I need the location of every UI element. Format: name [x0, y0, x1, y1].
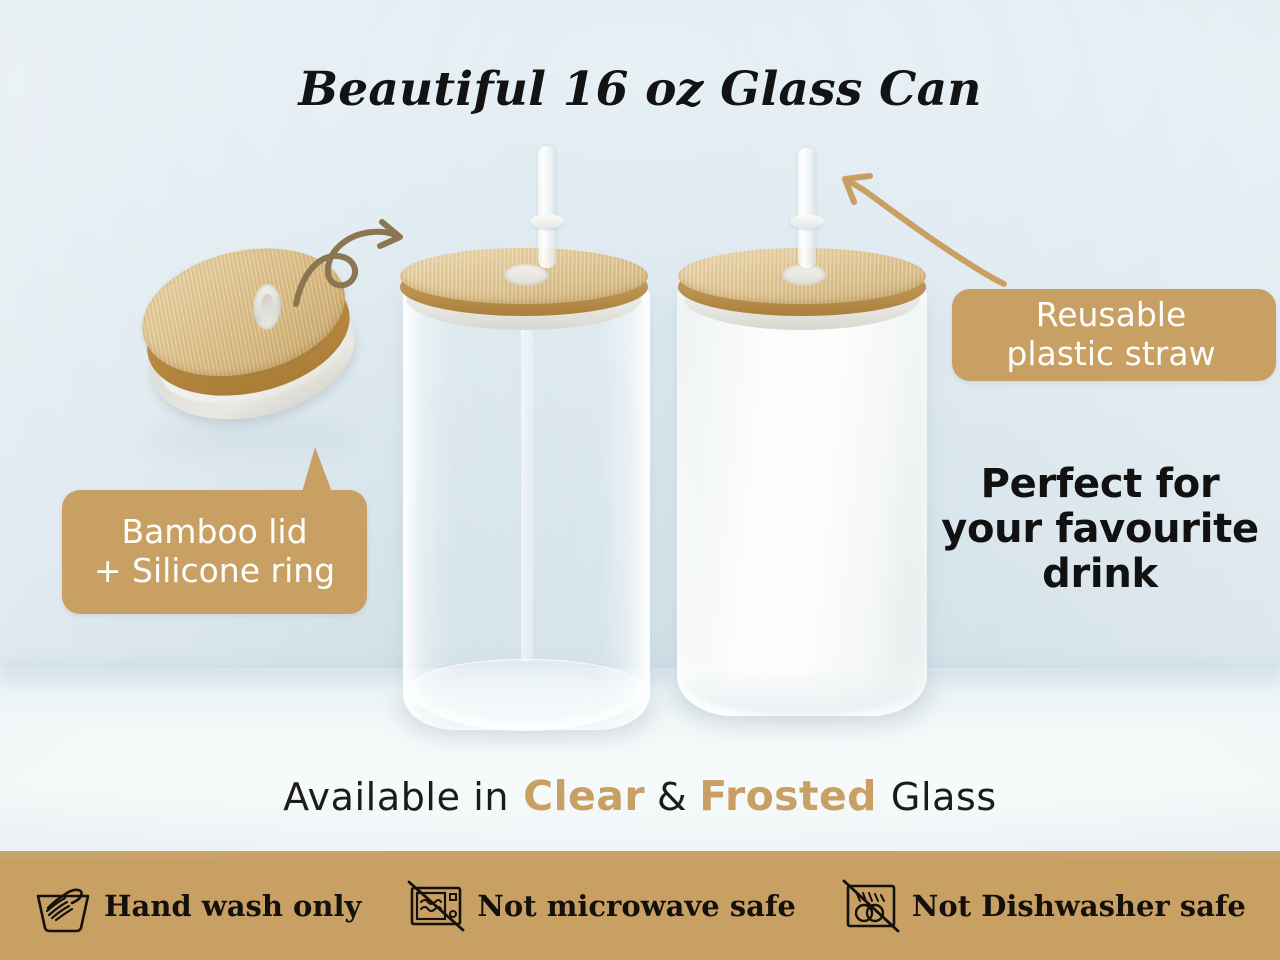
callout-bamboo-lid: Bamboo lid + Silicone ring	[62, 490, 367, 614]
no-dishwasher-icon	[842, 878, 900, 934]
callout-straw-line2: plastic straw	[1006, 335, 1215, 374]
availability-line: Available inClear&FrostedGlass	[0, 772, 1280, 820]
page-title: Beautiful 16 oz Glass Can	[0, 62, 1280, 117]
availability-option-frosted: Frosted	[699, 772, 877, 820]
care-item-no-microwave: Not microwave safe	[407, 878, 796, 934]
clear-can-straw-lower	[521, 300, 533, 662]
hand-wash-icon	[34, 878, 92, 934]
frosted-can-body	[677, 280, 927, 716]
callout-bamboo-lid-pointer	[302, 447, 332, 492]
care-label-no-dishwasher: Not Dishwasher safe	[912, 889, 1246, 923]
care-item-no-dishwasher: Not Dishwasher safe	[842, 878, 1246, 934]
availability-option-clear: Clear	[523, 772, 645, 820]
infographic-canvas: Beautiful 16 oz Glass Can	[0, 0, 1280, 960]
care-item-hand-wash: Hand wash only	[34, 878, 361, 934]
tagline: Perfect for your favourite drink	[940, 462, 1260, 596]
tagline-line3: drink	[940, 552, 1260, 597]
curly-arrow-to-lid-icon	[292, 212, 422, 308]
callout-lid-line2: + Silicone ring	[94, 552, 335, 591]
no-microwave-icon	[407, 878, 465, 934]
care-label-hand-wash: Hand wash only	[104, 889, 361, 923]
callout-lid-line1: Bamboo lid	[121, 512, 307, 551]
frosted-can-straw	[798, 148, 816, 268]
callout-reusable-straw: Reusable plastic straw	[952, 289, 1276, 381]
care-label-no-microwave: Not microwave safe	[477, 889, 796, 923]
care-instructions-bar: Hand wash only Not microwave safe	[0, 851, 1280, 960]
availability-conjunction: &	[645, 775, 699, 819]
clear-can-straw-collar	[530, 214, 564, 229]
curved-arrow-to-straw-icon	[826, 160, 1016, 290]
frosted-can-straw-collar	[790, 214, 824, 229]
availability-prefix: Available in	[283, 775, 509, 819]
availability-suffix: Glass	[891, 775, 997, 819]
clear-can-lid-hole	[504, 264, 548, 286]
clear-can-straw	[538, 146, 556, 268]
tagline-line2: your favourite	[940, 507, 1260, 552]
clear-can-lid	[400, 248, 648, 322]
callout-straw-line1: Reusable	[1036, 295, 1187, 334]
tagline-line1: Perfect for	[940, 462, 1260, 507]
